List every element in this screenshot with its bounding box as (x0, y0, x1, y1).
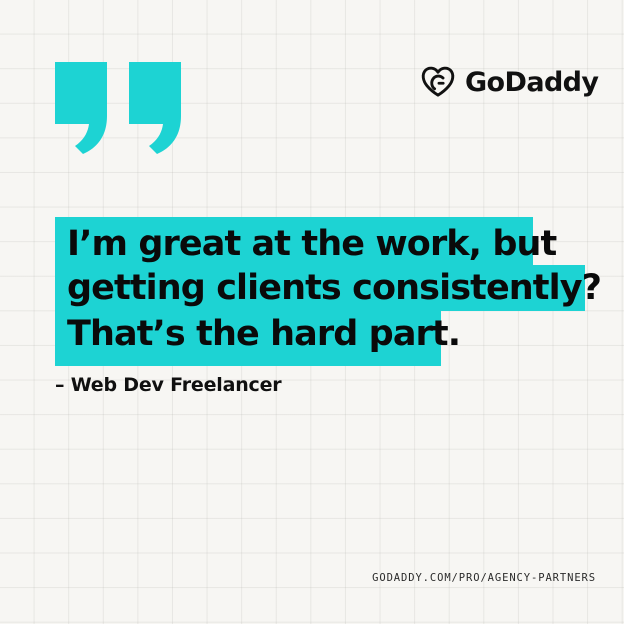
godaddy-logo: GoDaddy (420, 64, 598, 100)
quote-line-1: I’m great at the work, but (55, 217, 533, 265)
quotation-mark-icon (55, 62, 181, 154)
quote-line-3: That’s the hard part. (55, 311, 441, 366)
quote-card: GoDaddy I’m great at the work, but getti… (0, 0, 624, 624)
pull-quote: I’m great at the work, but getting clien… (55, 217, 595, 366)
quote-attribution: – Web Dev Freelancer (55, 374, 281, 396)
godaddy-heart-icon (420, 64, 456, 100)
godaddy-wordmark: GoDaddy (465, 69, 598, 96)
quote-line-2: getting clients consistently? (55, 265, 585, 311)
footer-url: GODADDY.COM/PRO/AGENCY-PARTNERS (372, 572, 596, 584)
